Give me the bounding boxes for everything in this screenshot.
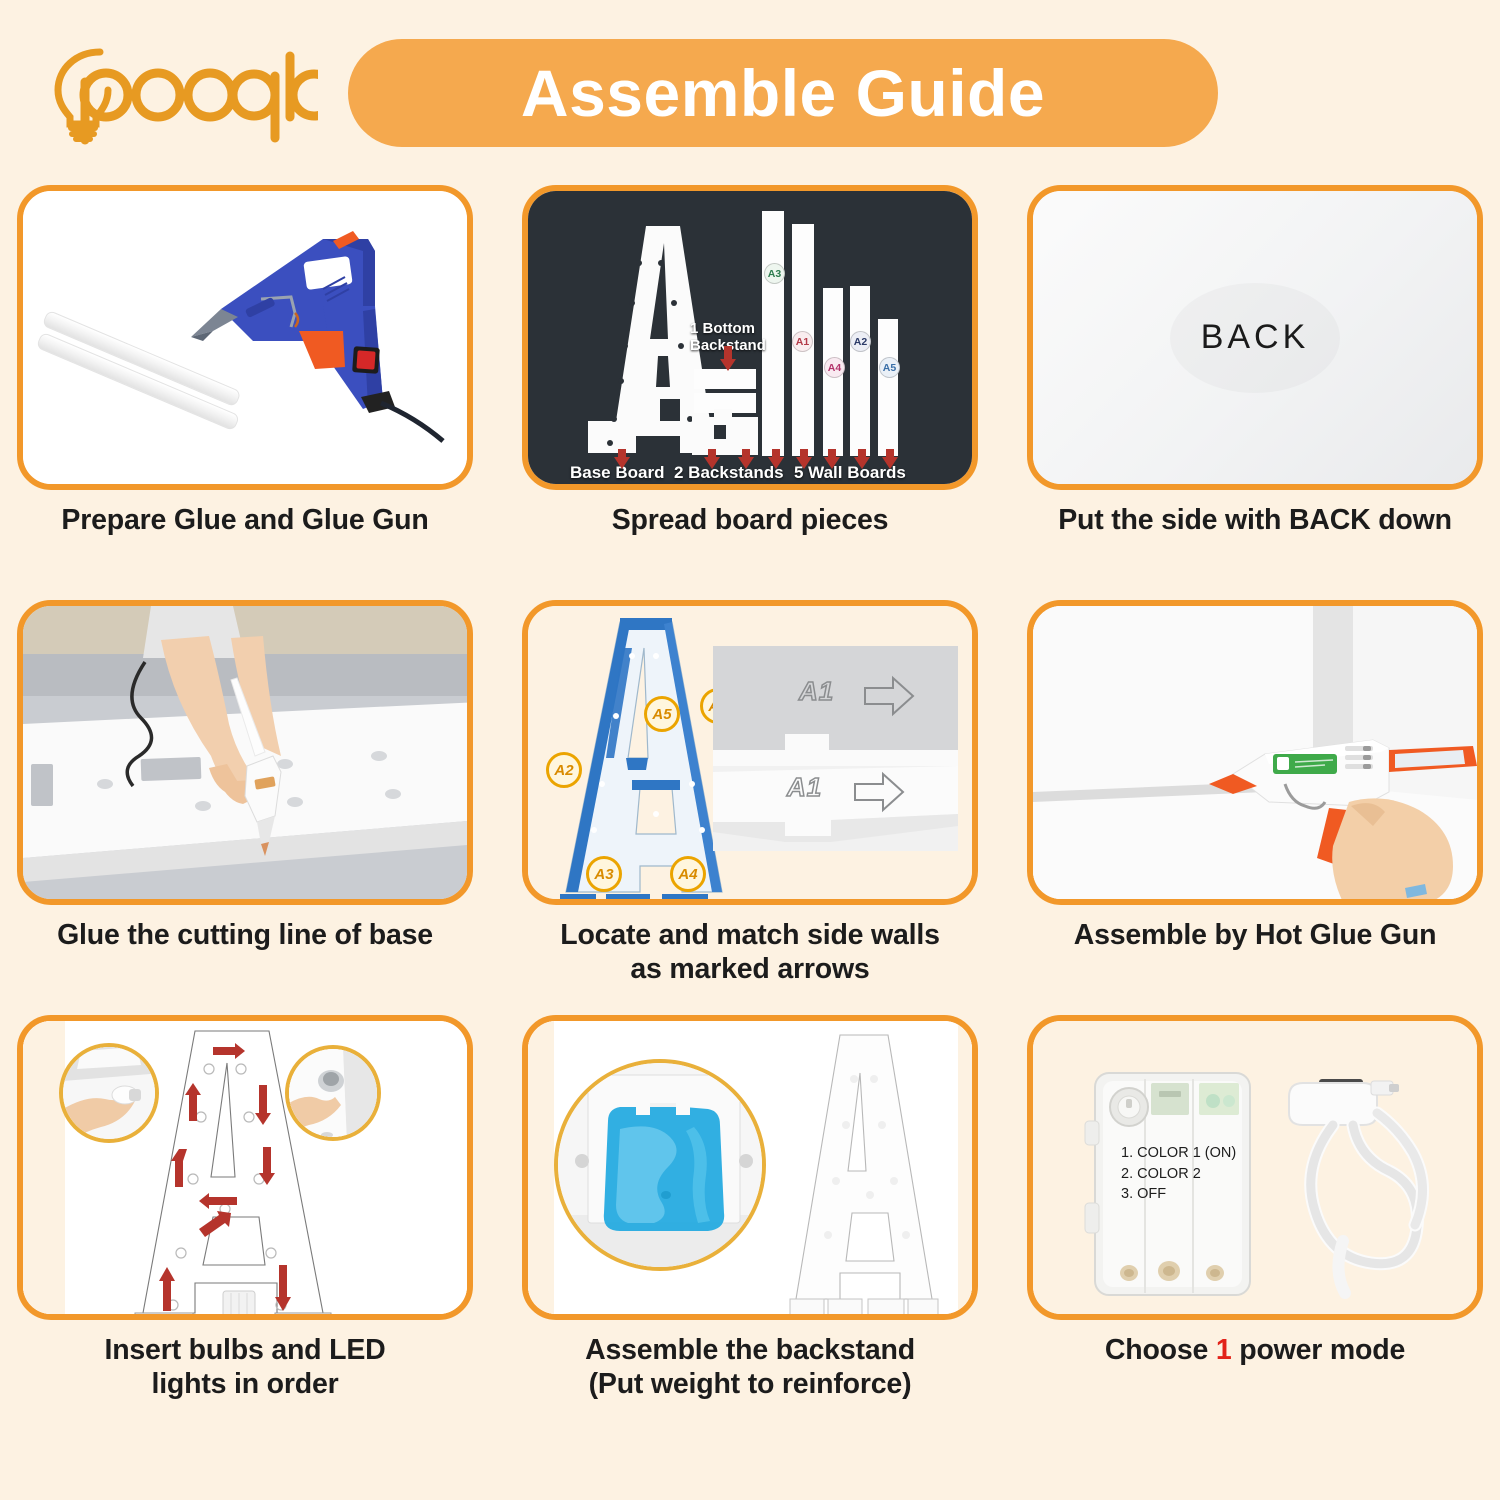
inset-insert-bulb-left: [59, 1043, 159, 1143]
step-card-3: BACK Put the side with BACK down: [1020, 185, 1490, 600]
step-card-4: Glue the cutting line of base: [10, 600, 480, 1015]
step-8-caption: Assemble the backstand (Put weight to re…: [515, 1334, 985, 1401]
step-9-image: 1. COLOR 1 (ON) 2. COLOR 2 3. OFF: [1027, 1015, 1483, 1320]
step-3-caption: Put the side with BACK down: [1020, 504, 1490, 538]
badge-a5-marker: A5: [644, 696, 680, 732]
step-5-caption-line2: as marked arrows: [630, 953, 869, 985]
step-card-2: A3 A1 A2 A4 A5 1 BottomBackstand Base Bo…: [515, 185, 985, 600]
title-banner: Assemble Guide: [348, 39, 1218, 147]
step-7-caption: Insert bulbs and LED lights in order: [10, 1334, 480, 1401]
step-6-caption: Assemble by Hot Glue Gun: [1020, 919, 1490, 953]
back-label: BACK: [1201, 318, 1310, 357]
power-mode-3: 3. OFF: [1121, 1184, 1236, 1205]
badge-a2-marker: A2: [546, 752, 582, 788]
page-header: Assemble Guide: [0, 0, 1500, 185]
step-8-image: [522, 1015, 978, 1320]
step-1-caption: Prepare Glue and Glue Gun: [10, 504, 480, 538]
step-1-image: [17, 185, 473, 490]
lightbulb-icon: [38, 40, 318, 145]
pointer-arrows: [528, 191, 978, 490]
hot-glue-gun-assembly-photo: [1033, 606, 1477, 899]
badge-a3-marker: A3: [586, 856, 622, 892]
step-2-image: A3 A1 A2 A4 A5 1 BottomBackstand Base Bo…: [522, 185, 978, 490]
inset-water-weight-bag: [554, 1059, 766, 1271]
step-7-image: [17, 1015, 473, 1320]
step-7-caption-line1: Insert bulbs and LED: [104, 1334, 385, 1366]
blue-water-bag-illustration: [558, 1063, 766, 1271]
brand-logo: [30, 40, 320, 145]
step-5-caption: Locate and match side walls as marked ar…: [515, 919, 985, 986]
step-9-caption-suffix: power mode: [1232, 1334, 1406, 1366]
back-marking-circle: BACK: [1170, 283, 1340, 393]
step-5-inset-photo: A1 A1: [713, 646, 958, 851]
step-4-caption: Glue the cutting line of base: [10, 919, 480, 953]
step-9-caption-prefix: Choose: [1105, 1334, 1216, 1366]
step-4-image: [17, 600, 473, 905]
blue-glue-gun-illustration: [23, 191, 473, 490]
step-card-8: Assemble the backstand (Put weight to re…: [515, 1015, 985, 1430]
power-options-photo: [1033, 1021, 1483, 1320]
step-5-caption-line1: Locate and match side walls: [560, 919, 939, 951]
step-card-9: 1. COLOR 1 (ON) 2. COLOR 2 3. OFF Choose…: [1020, 1015, 1490, 1430]
power-mode-list: 1. COLOR 1 (ON) 2. COLOR 2 3. OFF: [1121, 1143, 1236, 1205]
inset-label-a1-bottom: A1: [787, 772, 822, 803]
inset-label-a1-top: A1: [799, 676, 834, 707]
step-card-5: A5 A1 A2 A3 A4: [515, 600, 985, 1015]
step-9-caption-highlight: 1: [1216, 1334, 1232, 1366]
power-mode-1: 1. COLOR 1 (ON): [1121, 1143, 1236, 1164]
step-6-image: [1027, 600, 1483, 905]
power-mode-2: 2. COLOR 2: [1121, 1164, 1236, 1185]
step-3-image: BACK: [1027, 185, 1483, 490]
step-card-6: Assemble by Hot Glue Gun: [1020, 600, 1490, 1015]
page-title: Assemble Guide: [521, 60, 1045, 126]
step-card-7: Insert bulbs and LED lights in order: [10, 1015, 480, 1430]
steps-grid: Prepare Glue and Glue Gun: [0, 185, 1500, 1430]
wall-board-match-diagram: [713, 646, 958, 851]
step-8-caption-line2: (Put weight to reinforce): [589, 1368, 912, 1400]
step-card-1: Prepare Glue and Glue Gun: [10, 185, 480, 600]
hands-gluing-photo: [23, 606, 467, 899]
inset-led-socket-right: [285, 1045, 381, 1141]
badge-a4-marker: A4: [670, 856, 706, 892]
step-7-caption-line2: lights in order: [151, 1368, 338, 1400]
step-2-caption: Spread board pieces: [515, 504, 985, 538]
step-8-caption-line1: Assemble the backstand: [585, 1334, 915, 1366]
step-5-image: A5 A1 A2 A3 A4: [522, 600, 978, 905]
step-9-caption: Choose 1 power mode: [1020, 1334, 1490, 1368]
